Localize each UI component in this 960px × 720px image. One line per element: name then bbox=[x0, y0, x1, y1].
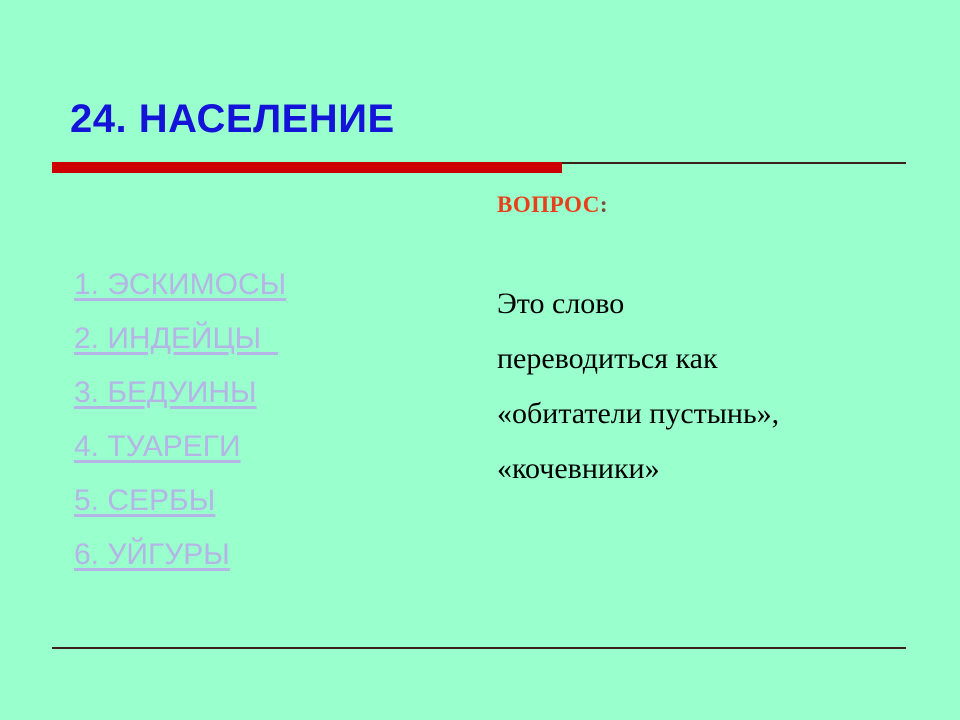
question-line-4: «кочевники» bbox=[497, 441, 917, 496]
question-line-2: переводиться как bbox=[497, 331, 917, 386]
answer-link-1[interactable]: 1. ЭСКИМОСЫ bbox=[74, 258, 434, 312]
question-block: ВОПРОС: Это слово переводиться как «обит… bbox=[497, 192, 917, 496]
question-line-3: «обитатели пустынь», bbox=[497, 386, 917, 441]
bottom-divider-line bbox=[52, 647, 906, 649]
answer-link-4[interactable]: 4. ТУАРЕГИ bbox=[74, 420, 434, 474]
question-body: Это слово переводиться как «обитатели пу… bbox=[497, 276, 917, 496]
title-divider-accent-bar bbox=[52, 162, 562, 173]
answer-link-3[interactable]: 3. БЕДУИНЫ bbox=[74, 366, 434, 420]
question-line-1: Это слово bbox=[497, 276, 917, 331]
question-label-colon: : bbox=[600, 192, 608, 217]
answer-link-5[interactable]: 5. СЕРБЫ bbox=[74, 474, 434, 528]
answer-link-6[interactable]: 6. УЙГУРЫ bbox=[74, 528, 434, 582]
question-label-text: ВОПРОС bbox=[497, 192, 600, 217]
slide-canvas: 24. НАСЕЛЕНИЕ 1. ЭСКИМОСЫ 2. ИНДЕЙЦЫ 3. … bbox=[0, 0, 960, 720]
answer-link-2[interactable]: 2. ИНДЕЙЦЫ bbox=[74, 312, 434, 366]
answer-options-list: 1. ЭСКИМОСЫ 2. ИНДЕЙЦЫ 3. БЕДУИНЫ 4. ТУА… bbox=[74, 258, 434, 582]
question-label: ВОПРОС: bbox=[497, 192, 917, 218]
page-title: 24. НАСЕЛЕНИЕ bbox=[70, 98, 395, 140]
